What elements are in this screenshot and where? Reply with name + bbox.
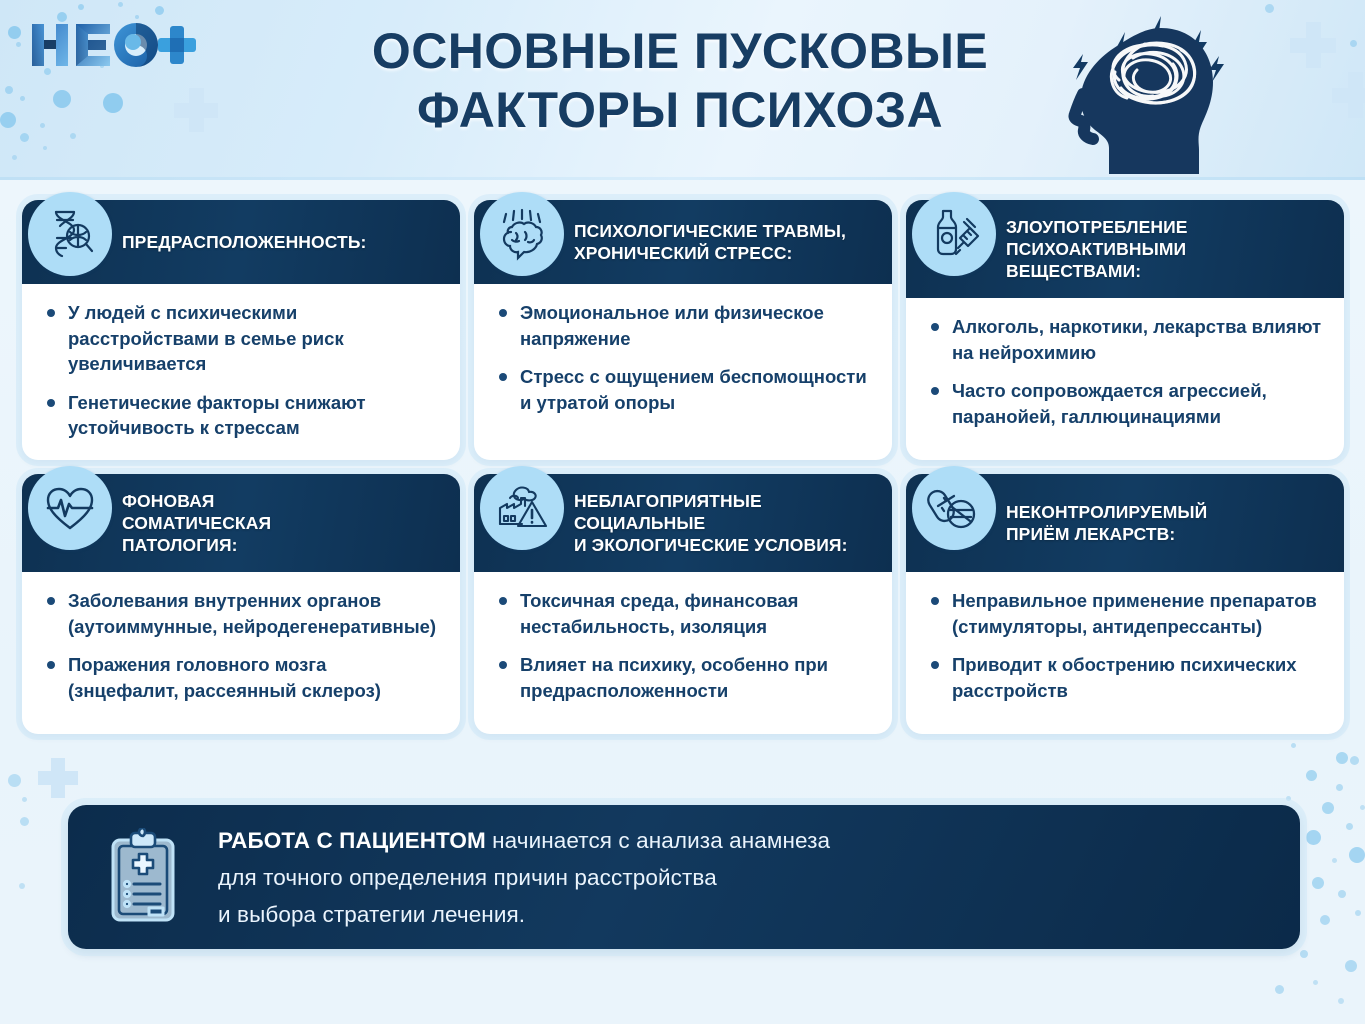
bullet-list: Заболевания внутренних органов (аутоимму… (40, 588, 442, 703)
banner-line-3: и выбора стратегии лечения. (218, 896, 830, 933)
dna-magnifier-icon (28, 192, 112, 276)
card-title: ПСИХОЛОГИЧЕСКИЕ ТРАВМЫ, ХРОНИЧЕСКИЙ СТРЕ… (574, 214, 846, 270)
factor-card-social-ecological[interactable]: НЕБЛАГОПРИЯТНЫЕ СОЦИАЛЬНЫЕ И ЭКОЛОГИЧЕСК… (474, 474, 892, 734)
list-item: Генетические факторы снижают устойчивост… (40, 390, 442, 441)
stressed-brain-icon (480, 192, 564, 276)
banner-line-2: для точного определения причин расстройс… (218, 859, 830, 896)
list-item: Поражения головного мозга (знцефалит, ра… (40, 652, 442, 703)
card-header: НЕБЛАГОПРИЯТНЫЕ СОЦИАЛЬНЫЕ И ЭКОЛОГИЧЕСК… (474, 474, 892, 572)
factors-grid: ПРЕДРАСПОЛОЖЕННОСТЬ: У людей с психическ… (22, 200, 1344, 734)
plus-decor-icon (1290, 22, 1336, 68)
page-title: ОСНОВНЫЕ ПУСКОВЫЕ ФАКТОРЫ ПСИХОЗА (300, 22, 1060, 140)
plus-decor-icon (174, 88, 218, 132)
clipboard-medical-icon (68, 828, 218, 926)
list-item: Алкоголь, наркотики, лекарства влияют на… (924, 314, 1326, 365)
factor-card-predisposition[interactable]: ПРЕДРАСПОЛОЖЕННОСТЬ: У людей с психическ… (22, 200, 460, 460)
list-item: Эмоциональное или физическое напряжение (492, 300, 874, 351)
page-header: ОСНОВНЫЕ ПУСКОВЫЕ ФАКТОРЫ ПСИХОЗА (0, 0, 1365, 180)
page-title-line-2: ФАКТОРЫ ПСИХОЗА (300, 81, 1060, 140)
head-with-tangled-brain-icon (1057, 2, 1257, 180)
list-item: Влияет на психику, особенно при предрасп… (492, 652, 874, 703)
bullet-list: Неправильное применение препаратов (стим… (924, 588, 1326, 703)
card-body: Токсичная среда, финансовая нестабильнос… (474, 572, 892, 721)
card-title: ЗЛОУПОТРЕБЛЕНИЕ ПСИХОАКТИВНЫМИ ВЕЩЕСТВАМ… (1006, 210, 1188, 288)
pills-icon (912, 466, 996, 550)
card-body: У людей с психическими расстройствами в … (22, 284, 460, 459)
card-body: Алкоголь, наркотики, лекарства влияют на… (906, 298, 1344, 447)
patient-work-banner: РАБОТА С ПАЦИЕНТОМ начинается с анализа … (68, 805, 1300, 949)
card-header: ПРЕДРАСПОЛОЖЕННОСТЬ: (22, 200, 460, 284)
list-item: Токсичная среда, финансовая нестабильнос… (492, 588, 874, 639)
plus-decor-icon (1332, 72, 1365, 118)
card-header: НЕКОНТРОЛИРУЕМЫЙ ПРИЁМ ЛЕКАРСТВ: (906, 474, 1344, 572)
banner-bold-lead: РАБОТА С ПАЦИЕНТОМ (218, 828, 486, 853)
card-body: Эмоциональное или физическое напряжение … (474, 284, 892, 433)
card-title: НЕБЛАГОПРИЯТНЫЕ СОЦИАЛЬНЫЕ И ЭКОЛОГИЧЕСК… (574, 484, 848, 562)
plus-decor-icon (38, 758, 78, 798)
brand-logo[interactable] (26, 16, 196, 74)
card-title: ПРЕДРАСПОЛОЖЕННОСТЬ: (122, 225, 366, 259)
heart-pulse-icon (28, 466, 112, 550)
list-item: Приводит к обострению психических расстр… (924, 652, 1326, 703)
list-item: Часто сопровождается агрессией, паранойе… (924, 378, 1326, 429)
bullet-list: У людей с психическими расстройствами в … (40, 300, 442, 441)
factor-card-somatic-pathology[interactable]: ФОНОВАЯ СОМАТИЧЕСКАЯ ПАТОЛОГИЯ: Заболева… (22, 474, 460, 734)
list-item: Неправильное применение препаратов (стим… (924, 588, 1326, 639)
card-header: ФОНОВАЯ СОМАТИЧЕСКАЯ ПАТОЛОГИЯ: (22, 474, 460, 572)
factory-warning-icon (480, 466, 564, 550)
banner-text: РАБОТА С ПАЦИЕНТОМ начинается с анализа … (218, 822, 830, 933)
list-item: У людей с психическими расстройствами в … (40, 300, 442, 377)
card-body: Заболевания внутренних органов (аутоимму… (22, 572, 460, 721)
card-title: НЕКОНТРОЛИРУЕМЫЙ ПРИЁМ ЛЕКАРСТВ: (1006, 495, 1207, 551)
bullet-list: Эмоциональное или физическое напряжение … (492, 300, 874, 415)
banner-line-1-rest: начинается с анализа анамнеза (486, 828, 830, 853)
factor-card-uncontrolled-medication[interactable]: НЕКОНТРОЛИРУЕМЫЙ ПРИЁМ ЛЕКАРСТВ: Неправи… (906, 474, 1344, 734)
main-content: ПРЕДРАСПОЛОЖЕННОСТЬ: У людей с психическ… (0, 180, 1365, 1024)
card-body: Неправильное применение препаратов (стим… (906, 572, 1344, 721)
card-header: ЗЛОУПОТРЕБЛЕНИЕ ПСИХОАКТИВНЫМИ ВЕЩЕСТВАМ… (906, 200, 1344, 298)
factor-card-trauma-stress[interactable]: ПСИХОЛОГИЧЕСКИЕ ТРАВМЫ, ХРОНИЧЕСКИЙ СТРЕ… (474, 200, 892, 460)
bullet-list: Алкоголь, наркотики, лекарства влияют на… (924, 314, 1326, 429)
card-title: ФОНОВАЯ СОМАТИЧЕСКАЯ ПАТОЛОГИЯ: (122, 484, 271, 562)
factor-card-substance-abuse[interactable]: ЗЛОУПОТРЕБЛЕНИЕ ПСИХОАКТИВНЫМИ ВЕЩЕСТВАМ… (906, 200, 1344, 460)
bottle-syringe-icon (912, 192, 996, 276)
banner-line-1: РАБОТА С ПАЦИЕНТОМ начинается с анализа … (218, 822, 830, 859)
list-item: Стресс с ощущением беспомощности и утрат… (492, 364, 874, 415)
card-header: ПСИХОЛОГИЧЕСКИЕ ТРАВМЫ, ХРОНИЧЕСКИЙ СТРЕ… (474, 200, 892, 284)
list-item: Заболевания внутренних органов (аутоимму… (40, 588, 442, 639)
page-title-line-1: ОСНОВНЫЕ ПУСКОВЫЕ (300, 22, 1060, 81)
bullet-list: Токсичная среда, финансовая нестабильнос… (492, 588, 874, 703)
